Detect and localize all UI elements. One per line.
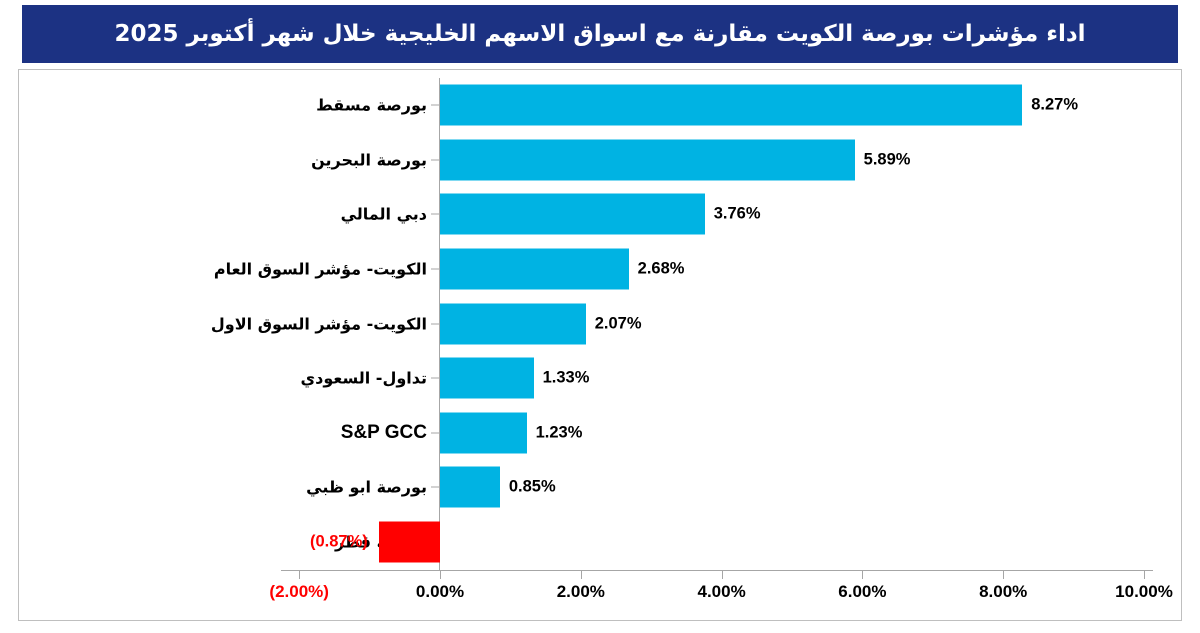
bar-row: دبي المالي3.76%: [19, 187, 1181, 242]
bar-positive[interactable]: [440, 85, 1022, 126]
bar-positive[interactable]: [440, 412, 527, 453]
bar-value-label: (0.87%): [310, 533, 368, 552]
category-tick: [431, 487, 440, 488]
value-axis-tick: [862, 570, 863, 579]
category-label: S&P GCC: [341, 422, 427, 444]
category-tick: [431, 378, 440, 379]
plot-area: بورصة مسقط8.27%بورصة البحرين5.89%دبي الم…: [19, 70, 1181, 620]
category-label: بورصة مسقط: [316, 96, 427, 115]
bar-row: S&P GCC1.23%: [19, 406, 1181, 461]
bar-row: بورصة مسقط8.27%: [19, 78, 1181, 133]
bar-value-label: 5.89%: [864, 150, 911, 169]
value-axis-tick: [440, 570, 441, 579]
value-axis-tick: [722, 570, 723, 579]
chart-title-banner: اداء مؤشرات بورصة الكويت مقارنة مع اسواق…: [22, 5, 1178, 63]
bar-positive[interactable]: [440, 303, 586, 344]
category-label: بورصة ابو ظبي: [306, 478, 427, 497]
page-title: اداء مؤشرات بورصة الكويت مقارنة مع اسواق…: [114, 21, 1085, 47]
value-axis-line: [281, 570, 1153, 571]
category-label: الكويت- مؤشر السوق الاول: [211, 314, 427, 333]
bar-value-label: 1.23%: [536, 423, 583, 442]
bar-negative[interactable]: [379, 522, 440, 563]
bar-positive[interactable]: [440, 139, 855, 180]
bar-value-label: 1.33%: [543, 369, 590, 388]
bar-value-label: 8.27%: [1031, 96, 1078, 115]
bar-positive[interactable]: [440, 194, 705, 235]
category-label: الكويت- مؤشر السوق العام: [214, 260, 427, 279]
bar-row: الكويت- مؤشر السوق العام2.68%: [19, 242, 1181, 297]
value-axis-label: 10.00%: [1115, 582, 1173, 602]
value-axis-tick: [581, 570, 582, 579]
value-axis-label: 0.00%: [416, 582, 464, 602]
bar-value-label: 2.07%: [595, 314, 642, 333]
category-label: دبي المالي: [341, 205, 427, 224]
chart-frame: بورصة مسقط8.27%بورصة البحرين5.89%دبي الم…: [18, 69, 1182, 621]
bar-positive[interactable]: [440, 249, 629, 290]
value-axis-tick: [1003, 570, 1004, 579]
bar-value-label: 3.76%: [714, 205, 761, 224]
value-axis-tick: [299, 570, 300, 579]
bar-row: الكويت- مؤشر السوق الاول2.07%: [19, 296, 1181, 351]
value-axis-label: (2.00%): [269, 582, 329, 602]
category-tick: [431, 105, 440, 106]
category-label: تداول- السعودي: [301, 369, 427, 388]
category-tick: [431, 323, 440, 324]
bar-row: بورصة قطر(0.87%): [19, 515, 1181, 570]
category-label: بورصة البحرين: [311, 150, 427, 169]
category-tick: [431, 214, 440, 215]
value-axis-label: 4.00%: [697, 582, 745, 602]
value-axis-label: 8.00%: [979, 582, 1027, 602]
value-axis-tick: [1144, 570, 1145, 579]
category-tick: [431, 432, 440, 433]
category-tick: [431, 269, 440, 270]
bar-value-label: 2.68%: [638, 260, 685, 279]
bar-row: تداول- السعودي1.33%: [19, 351, 1181, 406]
bar-row: بورصة ابو ظبي0.85%: [19, 460, 1181, 515]
category-tick: [431, 159, 440, 160]
value-axis-label: 2.00%: [557, 582, 605, 602]
bar-positive[interactable]: [440, 467, 500, 508]
bar-value-label: 0.85%: [509, 478, 556, 497]
bar-row: بورصة البحرين5.89%: [19, 133, 1181, 188]
value-axis-label: 6.00%: [838, 582, 886, 602]
bar-positive[interactable]: [440, 358, 534, 399]
